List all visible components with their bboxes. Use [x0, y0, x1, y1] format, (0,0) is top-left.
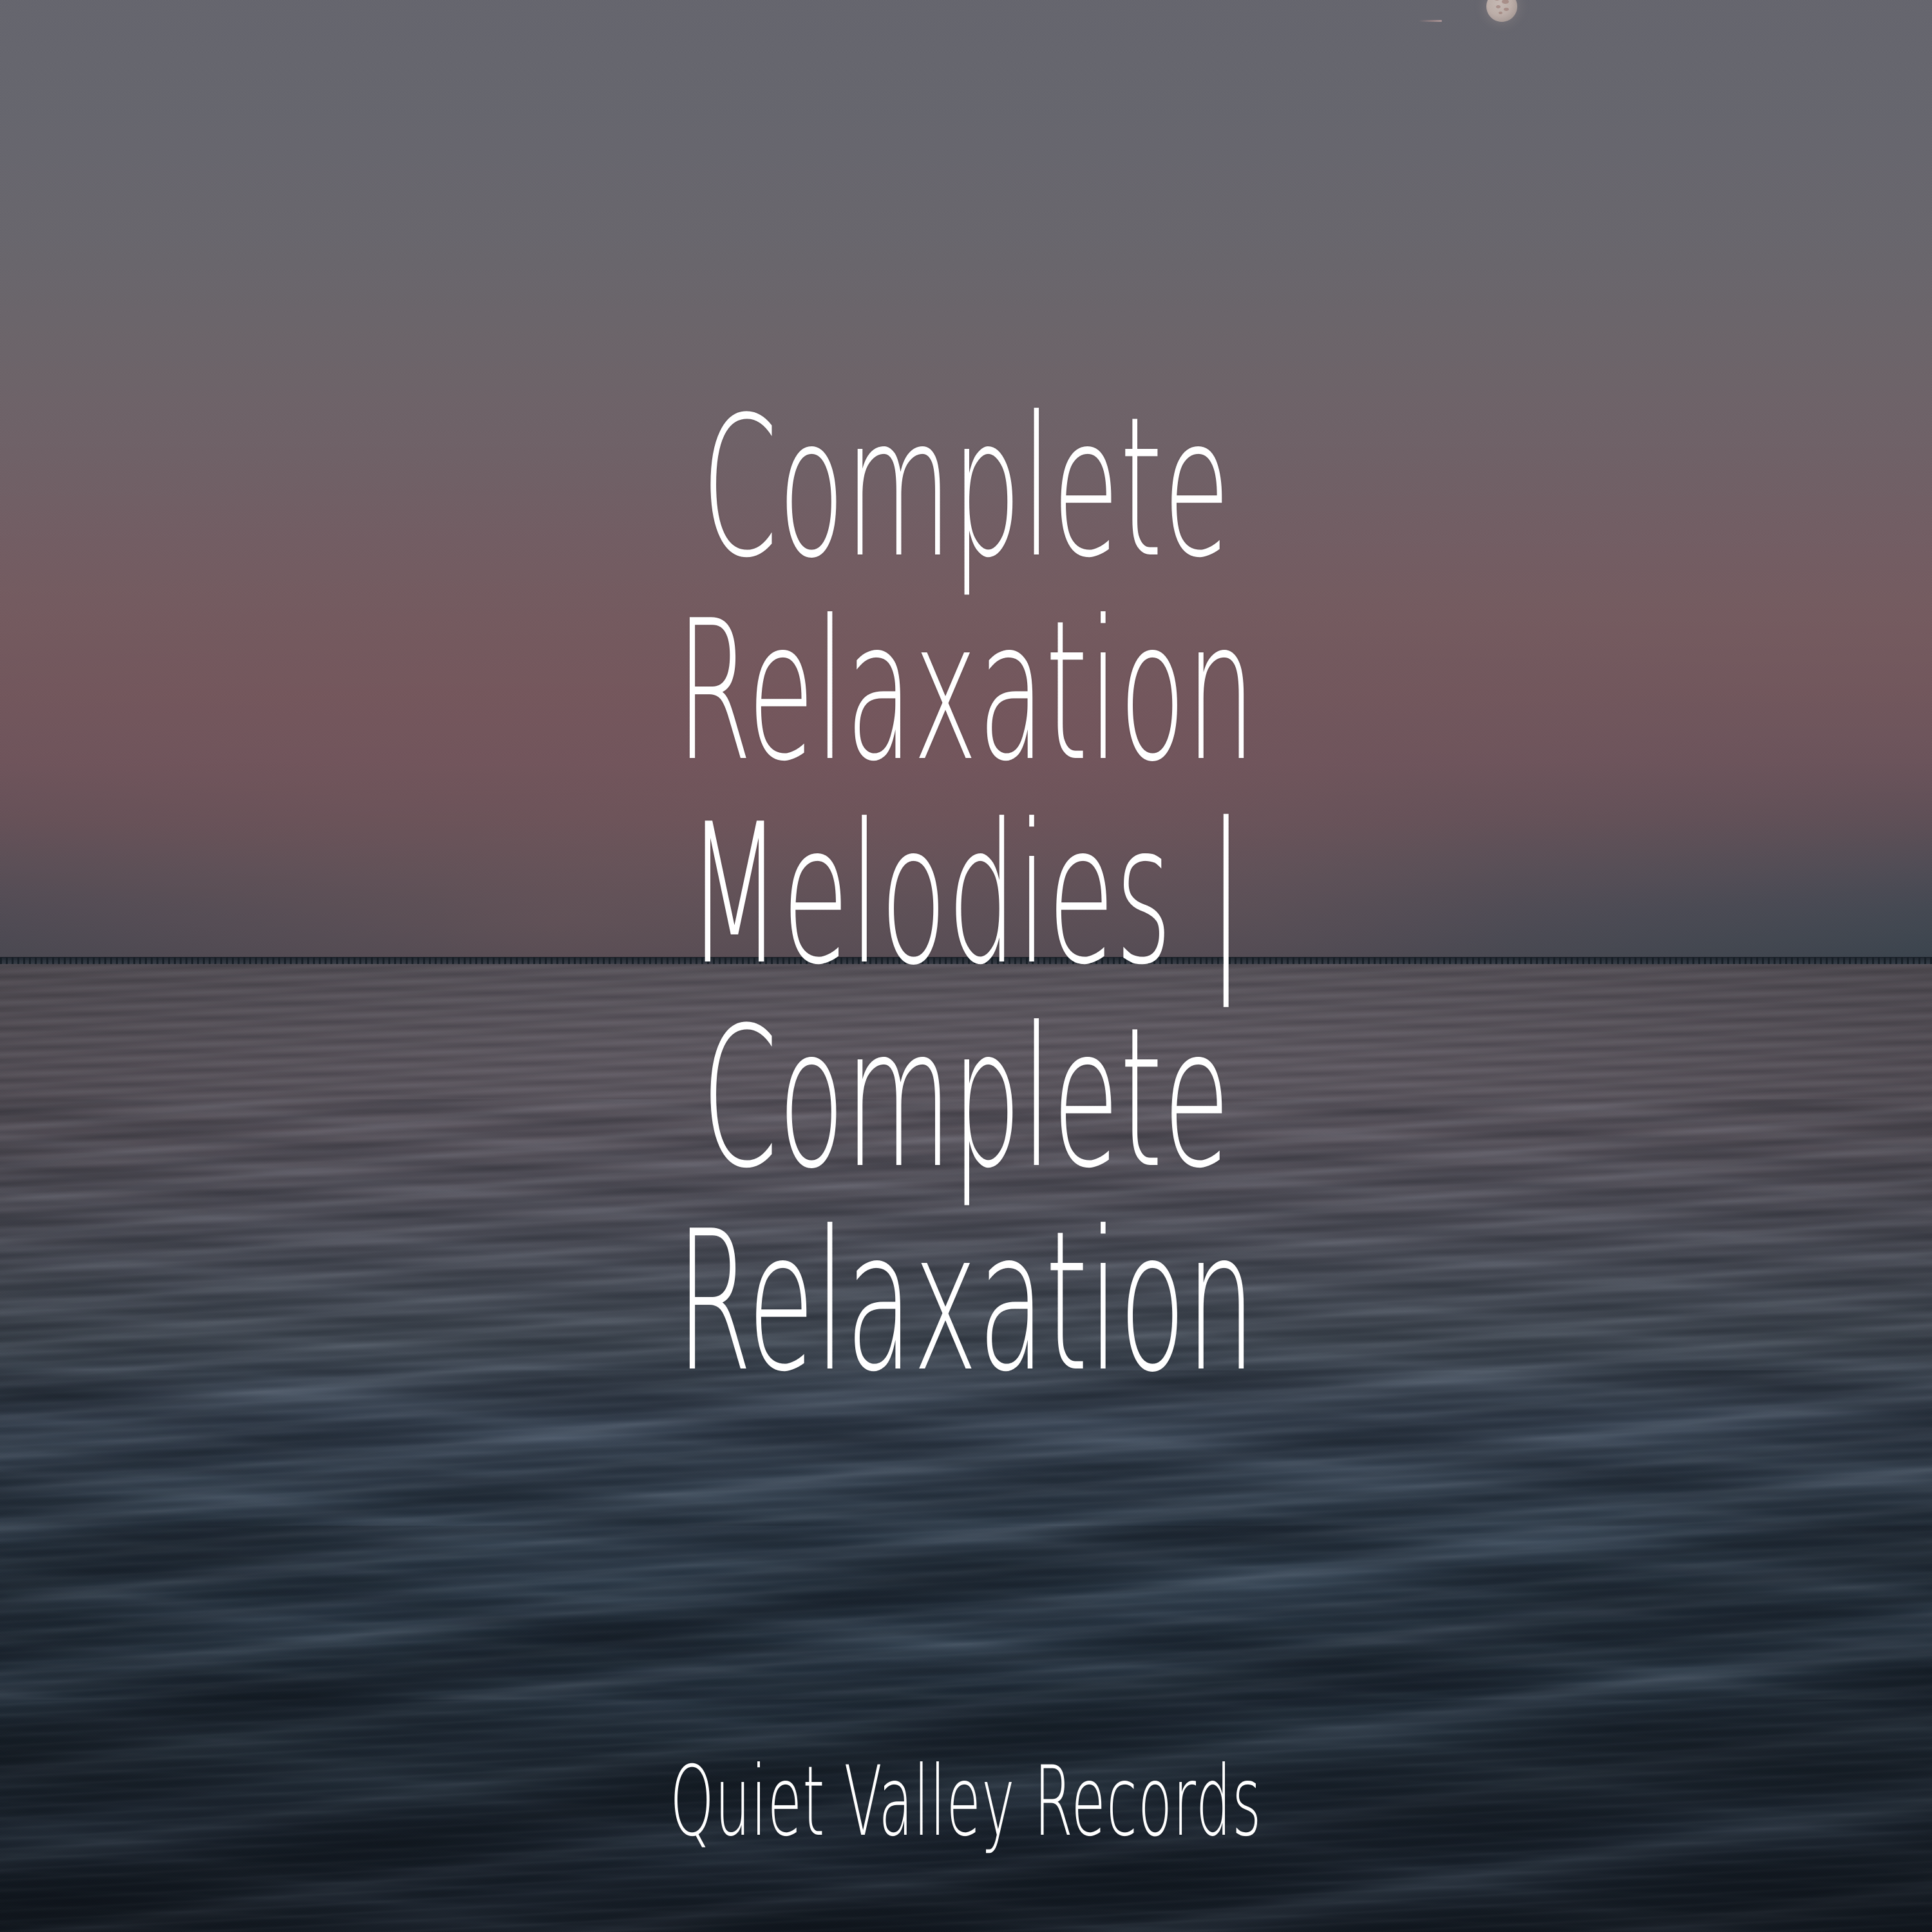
album-cover: Complete Relaxation Melodies | Complete …	[0, 0, 1932, 1932]
record-label-name: Quiet Valley Records	[406, 1750, 1526, 1853]
typography-layer: Complete Relaxation Melodies | Complete …	[0, 0, 1932, 1932]
album-title: Complete Relaxation Melodies | Complete …	[421, 386, 1512, 1404]
